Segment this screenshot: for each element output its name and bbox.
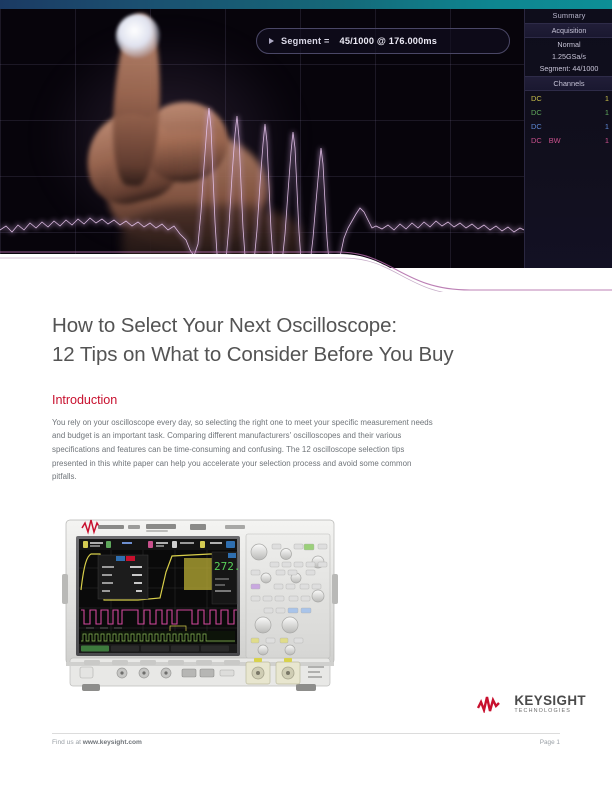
sidebar-acquisition-mode: Normal [525,38,612,50]
scope-measurement-overlay [98,555,148,599]
segment-readout-box: Segment = 45/1000 @ 176.000ms [256,28,510,54]
segment-label: Segment = [281,36,330,46]
channel-value: 1 [605,136,609,145]
curved-swoosh-divider [0,196,612,292]
keysight-logo: KEYSIGHT TECHNOLOGIES [477,694,586,715]
keysight-tagline: TECHNOLOGIES [514,709,586,714]
channel-coupling: DC [531,108,542,117]
footer-divider [52,733,560,734]
channel-row: DC 1 [525,91,612,105]
page-root: Segment = 45/1000 @ 176.000ms Summary Ac… [0,0,612,792]
footer-website-url[interactable]: www.keysight.com [83,739,142,746]
top-gradient-bar [0,0,612,9]
channel-coupling: DC [531,122,542,131]
sidebar-summary-title: Summary [525,8,612,23]
footer-find-us: Find us at www.keysight.com [52,739,142,746]
footer-page-number: Page 1 [540,739,560,746]
channel-row: DC BW 1 [525,133,612,147]
keysight-wordmark: KEYSIGHT [514,694,586,707]
channel-value: 1 [605,108,609,117]
sidebar-channels-title: Channels [525,76,612,91]
play-triangle-icon [269,38,274,44]
page-title-line2: 12 Tips on What to Consider Before You B… [52,340,522,369]
channel-value: 1 [605,122,609,131]
readout-number: 272. [214,560,241,573]
page-title-line1: How to Select Your Next Oscilloscope: [52,314,397,337]
sidebar-segment-status: Segment: 44/1000 [525,62,612,74]
channel-row: DC 1 [525,119,612,133]
sidebar-acquisition-title: Acquisition [525,23,612,38]
scope-value-readout: 272. [212,552,241,604]
channel-coupling: DC [531,94,542,103]
scope-softkey-row [79,644,237,653]
section-heading-introduction: Introduction [52,393,117,407]
introduction-paragraph: You rely on your oscilloscope every day,… [52,416,434,484]
channel-bandwidth-limit: BW [549,136,561,145]
page-title: How to Select Your Next Oscilloscope: 12… [52,311,522,369]
keysight-wave-icon [477,695,507,713]
oscilloscope-product-image: 272. [60,512,342,698]
channel-coupling: DC [531,136,542,145]
footer-find-us-prefix: Find us at [52,739,83,746]
channel-value: 1 [605,94,609,103]
scope-display-status-bar [79,539,237,550]
segment-value: 45/1000 @ 176.000ms [340,36,438,46]
keysight-logo-text: KEYSIGHT TECHNOLOGIES [514,694,586,715]
power-button [80,667,93,678]
sidebar-sample-rate: 1.25GSa/s [525,50,612,62]
channel-row: DC 1 [525,105,612,119]
